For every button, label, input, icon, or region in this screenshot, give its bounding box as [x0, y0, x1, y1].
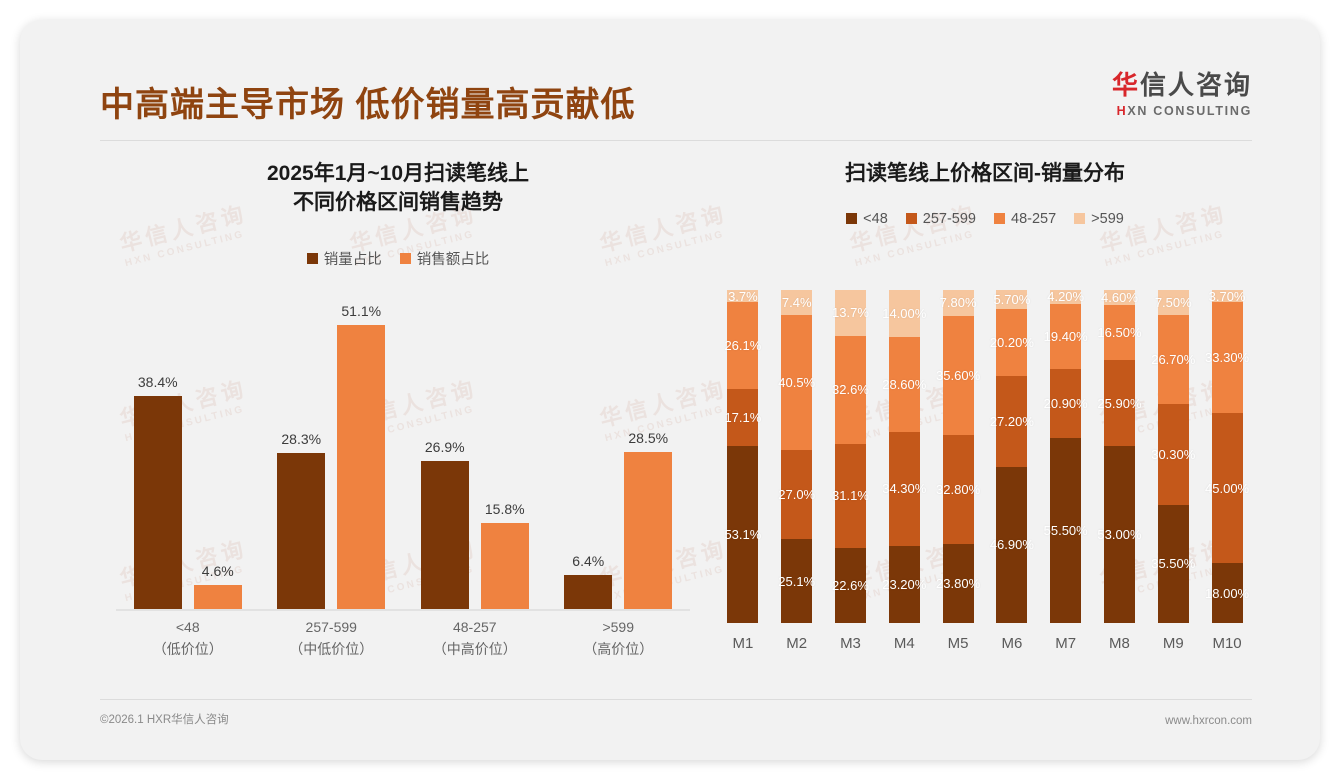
x-tick-M3: M3: [824, 623, 878, 665]
bar-销售额占比->599[interactable]: [624, 452, 672, 611]
chart-title-sales-trend: 2025年1月~10月扫读笔线上 不同价格区间销售趋势: [98, 160, 698, 218]
stacked-bar-M8: 4.60%16.50%25.90%53.00%: [1104, 290, 1135, 623]
stack-column-M7: 4.20%19.40%20.90%55.50%: [1039, 290, 1093, 623]
legend-item->599[interactable]: >599: [1074, 211, 1124, 227]
stack-segment-label: 16.50%: [1097, 325, 1141, 340]
bar-group-257-599: 28.3%51.1%: [260, 298, 404, 611]
stacked-bar-M2: 7.4%40.5%27.0%25.1%: [781, 290, 812, 623]
stacked-bar-M3: 13.7%32.6%31.1%22.6%: [835, 290, 866, 623]
stacked-bar-M6: 5.70%20.20%27.20%46.90%: [996, 290, 1027, 623]
slide-canvas: 中高端主导市场 低价销量高贡献低 华信人咨询 HXN CONSULTING 华信…: [20, 20, 1320, 760]
bar-销量占比->599[interactable]: [564, 575, 612, 611]
x-tick-M2: M2: [770, 623, 824, 665]
stack-segment-48-257-M3[interactable]: 32.6%: [835, 336, 866, 445]
stack-segment-label: 33.30%: [1205, 350, 1249, 365]
stack-segment-257-599-M10[interactable]: 45.00%: [1212, 413, 1243, 563]
stack-segment-label: 23.20%: [882, 577, 926, 592]
chart-panel-sales-trend: 2025年1月~10月扫读笔线上 不同价格区间销售趋势 销量占比销售额占比 38…: [98, 148, 698, 708]
stack-segment-label: 32.80%: [936, 482, 980, 497]
stack-segment-label: 28.60%: [882, 377, 926, 392]
stack-segment-<48-M3[interactable]: 22.6%: [835, 548, 866, 623]
stack-segment-48-257-M6[interactable]: 20.20%: [996, 309, 1027, 376]
bar-wrapper: 6.4%: [564, 298, 612, 611]
charts-region: 2025年1月~10月扫读笔线上 不同价格区间销售趋势 销量占比销售额占比 38…: [20, 148, 1320, 708]
stack-column-M6: 5.70%20.20%27.20%46.90%: [985, 290, 1039, 623]
stacked-bar-M4: 14.00%28.60%34.30%23.20%: [889, 290, 920, 623]
stack-segment-label: 26.1%: [724, 338, 761, 353]
stack-column-M9: 7.50%26.70%30.30%35.50%: [1146, 290, 1200, 623]
stack-segment-label: 32.6%: [832, 382, 869, 397]
stack-segment-label: 35.50%: [1151, 556, 1195, 571]
stack-segment-label: 5.70%: [993, 292, 1030, 307]
logo-chinese-rest: 信人咨询: [1140, 70, 1252, 100]
x-axis-labels-sales-trend: <48（低价位）257-599（中低价位）48-257（中高价位）>599（高价…: [116, 611, 690, 663]
bar-group-48-257: 26.9%15.8%: [403, 298, 547, 611]
stack-segment-label: 17.1%: [724, 410, 761, 425]
x-tick-M6: M6: [985, 623, 1039, 665]
stack-segment-label: 30.30%: [1151, 447, 1195, 462]
stack-segment-48-257-M5[interactable]: 35.60%: [943, 316, 974, 435]
stack-segment-label: 4.20%: [1047, 289, 1084, 304]
legend-swatch-icon: [846, 213, 857, 224]
bar-销售额占比-257-599[interactable]: [337, 325, 385, 611]
logo-chinese-first-char: 华: [1112, 70, 1140, 100]
stack-segment-label: 27.0%: [778, 487, 815, 502]
stack-segment-257-599-M6[interactable]: 27.20%: [996, 376, 1027, 467]
chart-plot-volume-distribution: 3.7%26.1%17.1%53.1%7.4%40.5%27.0%25.1%13…: [716, 290, 1254, 665]
chart-title-line-1: 2025年1月~10月扫读笔线上: [98, 160, 698, 189]
legend-item-48-257[interactable]: 48-257: [994, 211, 1056, 227]
footer-copyright: ©2026.1 HXR华信人咨询: [100, 711, 229, 727]
stack-segment->599-M4[interactable]: 14.00%: [889, 290, 920, 337]
bar-value-label: 38.4%: [118, 374, 198, 390]
legend-label: 48-257: [1011, 211, 1056, 227]
stacked-bar-M9: 7.50%26.70%30.30%35.50%: [1158, 290, 1189, 623]
stack-segment-<48-M1[interactable]: 53.1%: [727, 446, 758, 623]
x-tick-M9: M9: [1146, 623, 1200, 665]
stack-segment-label: 25.1%: [778, 574, 815, 589]
stack-segment-label: 7.80%: [940, 295, 977, 310]
stack-segment->599-M10[interactable]: 3.70%: [1212, 290, 1243, 302]
bar-wrapper: 15.8%: [481, 298, 529, 611]
legend-swatch-icon: [307, 253, 318, 264]
stack-segment-label: 27.20%: [990, 414, 1034, 429]
stack-segment-<48-M8[interactable]: 53.00%: [1104, 446, 1135, 622]
stacked-bars-container: 3.7%26.1%17.1%53.1%7.4%40.5%27.0%25.1%13…: [716, 290, 1254, 623]
legend-label: 257-599: [923, 211, 976, 227]
stack-segment-label: 31.1%: [832, 488, 869, 503]
stacked-bar-M1: 3.7%26.1%17.1%53.1%: [727, 290, 758, 623]
legend-label: 销售额占比: [417, 248, 490, 269]
legend-swatch-icon: [994, 213, 1005, 224]
stack-segment-label: 40.5%: [778, 375, 815, 390]
stack-segment-<48-M6[interactable]: 46.90%: [996, 467, 1027, 623]
stack-segment-label: 22.6%: [832, 578, 869, 593]
stack-segment->599-M7[interactable]: 4.20%: [1050, 290, 1081, 304]
stacked-bar-M10: 3.70%33.30%45.00%18.00%: [1212, 290, 1243, 623]
bar-wrapper: 38.4%: [134, 298, 182, 611]
x-tick-48-257: 48-257（中高价位）: [403, 611, 547, 663]
stack-segment-label: 7.4%: [782, 295, 812, 310]
stack-segment->599-M3[interactable]: 13.7%: [835, 290, 866, 336]
stack-segment->599-M9[interactable]: 7.50%: [1158, 290, 1189, 315]
logo-chinese: 华信人咨询: [1112, 72, 1252, 98]
stack-segment-<48-M5[interactable]: 23.80%: [943, 544, 974, 623]
bar-value-label: 28.5%: [608, 430, 688, 446]
bar-value-label: 15.8%: [465, 501, 545, 517]
legend-swatch-icon: [906, 213, 917, 224]
stack-column-M1: 3.7%26.1%17.1%53.1%: [716, 290, 770, 623]
legend-label: 销量占比: [324, 248, 382, 269]
stack-segment-label: 25.90%: [1097, 396, 1141, 411]
stacked-bar-M7: 4.20%19.40%20.90%55.50%: [1050, 290, 1081, 623]
stack-segment-label: 18.00%: [1205, 586, 1249, 601]
stack-segment-label: 7.50%: [1155, 295, 1192, 310]
bar-wrapper: 28.3%: [277, 298, 325, 611]
stack-segment-label: 20.90%: [1044, 396, 1088, 411]
stack-segment-48-257-M2[interactable]: 40.5%: [781, 315, 812, 450]
stack-column-M10: 3.70%33.30%45.00%18.00%: [1200, 290, 1254, 623]
stack-segment->599-M5[interactable]: 7.80%: [943, 290, 974, 316]
stack-segment-<48-M10[interactable]: 18.00%: [1212, 563, 1243, 623]
legend-item-销量占比[interactable]: 销量占比: [307, 248, 382, 269]
stack-column-M5: 7.80%35.60%32.80%23.80%: [931, 290, 985, 623]
stack-segment-48-257-M9[interactable]: 26.70%: [1158, 315, 1189, 404]
stack-segment-48-257-M8[interactable]: 16.50%: [1104, 305, 1135, 360]
x-tick-M5: M5: [931, 623, 985, 665]
bar-wrapper: 26.9%: [421, 298, 469, 611]
chart-legend-sales-trend: 销量占比销售额占比: [98, 248, 698, 269]
stack-segment-label: 14.00%: [882, 306, 926, 321]
stack-segment-label: 13.7%: [832, 305, 869, 320]
x-tick-sublabel: （中高价位）: [403, 639, 547, 661]
legend-item-257-599[interactable]: 257-599: [906, 211, 976, 227]
chart-legend-volume-distribution: <48257-59948-257>599: [710, 211, 1260, 227]
x-tick-sublabel: （高价位）: [547, 639, 691, 661]
stack-segment-257-599-M1[interactable]: 17.1%: [727, 389, 758, 446]
stack-column-M3: 13.7%32.6%31.1%22.6%: [824, 290, 878, 623]
stack-segment-label: 26.70%: [1151, 352, 1195, 367]
stack-segment-label: 19.40%: [1044, 329, 1088, 344]
stack-segment-257-599-M3[interactable]: 31.1%: [835, 444, 866, 548]
x-axis-labels-volume-distribution: M1M2M3M4M5M6M7M8M9M10: [716, 623, 1254, 665]
stack-segment-257-599-M2[interactable]: 27.0%: [781, 450, 812, 540]
stack-segment-<48-M9[interactable]: 35.50%: [1158, 505, 1189, 623]
x-tick->599: >599（高价位）: [547, 611, 691, 663]
header-divider: [100, 140, 1252, 141]
footer-website: www.hxrcon.com: [1165, 715, 1252, 727]
x-tick-label: <48: [116, 617, 260, 639]
logo-english-rest: XN CONSULTING: [1127, 104, 1252, 118]
x-tick-sublabel: （中低价位）: [260, 639, 404, 661]
stack-segment-<48-M2[interactable]: 25.1%: [781, 539, 812, 623]
stack-column-M4: 14.00%28.60%34.30%23.20%: [877, 290, 931, 623]
stack-segment-257-599-M8[interactable]: 25.90%: [1104, 360, 1135, 446]
bar-销量占比-257-599[interactable]: [277, 453, 325, 611]
stack-segment-label: 20.20%: [990, 335, 1034, 350]
stack-segment-48-257-M1[interactable]: 26.1%: [727, 302, 758, 389]
stack-segment-label: 45.00%: [1205, 481, 1249, 496]
stack-segment-48-257-M7[interactable]: 19.40%: [1050, 304, 1081, 369]
legend-item-<48[interactable]: <48: [846, 211, 888, 227]
chart-title-volume-distribution: 扫读笔线上价格区间-销量分布: [710, 160, 1260, 189]
stack-segment->599-M8[interactable]: 4.60%: [1104, 290, 1135, 305]
bar-value-label: 26.9%: [405, 439, 485, 455]
stack-segment-label: 34.30%: [882, 481, 926, 496]
x-tick-label: 257-599: [260, 617, 404, 639]
stack-segment->599-M2[interactable]: 7.4%: [781, 290, 812, 315]
stack-segment-257-599-M4[interactable]: 34.30%: [889, 432, 920, 546]
bar-value-label: 51.1%: [321, 303, 401, 319]
stack-segment-48-257-M4[interactable]: 28.60%: [889, 337, 920, 432]
legend-swatch-icon: [400, 253, 411, 264]
stack-segment-<48-M7[interactable]: 55.50%: [1050, 438, 1081, 623]
x-tick-M1: M1: [716, 623, 770, 665]
chart-plot-sales-trend: 38.4%4.6%28.3%51.1%26.9%15.8%6.4%28.5% <…: [116, 298, 690, 663]
x-tick-sublabel: （低价位）: [116, 639, 260, 661]
stack-segment-label: 23.80%: [936, 576, 980, 591]
x-tick-M8: M8: [1093, 623, 1147, 665]
chart-title-line-2: 不同价格区间销售趋势: [98, 189, 698, 218]
bar-value-label: 4.6%: [178, 563, 258, 579]
slide-header: 中高端主导市场 低价销量高贡献低 华信人咨询 HXN CONSULTING: [20, 20, 1320, 123]
x-tick-257-599: 257-599（中低价位）: [260, 611, 404, 663]
legend-swatch-icon: [1074, 213, 1085, 224]
bar-销售额占比-48-257[interactable]: [481, 523, 529, 611]
bar-value-label: 28.3%: [261, 431, 341, 447]
legend-label: <48: [863, 211, 888, 227]
stack-column-M8: 4.60%16.50%25.90%53.00%: [1093, 290, 1147, 623]
bar-wrapper: 4.6%: [194, 298, 242, 611]
stack-segment-257-599-M7[interactable]: 20.90%: [1050, 369, 1081, 439]
stack-segment-48-257-M10[interactable]: 33.30%: [1212, 302, 1243, 413]
bar-wrapper: 28.5%: [624, 298, 672, 611]
x-tick-M7: M7: [1039, 623, 1093, 665]
x-tick-M10: M10: [1200, 623, 1254, 665]
stack-segment->599-M6[interactable]: 5.70%: [996, 290, 1027, 309]
logo-english-first-char: H: [1117, 104, 1128, 118]
bar-销售额占比-<48[interactable]: [194, 585, 242, 611]
x-tick-label: 48-257: [403, 617, 547, 639]
x-tick-<48: <48（低价位）: [116, 611, 260, 663]
stack-segment-<48-M4[interactable]: 23.20%: [889, 546, 920, 623]
stack-segment-257-599-M5[interactable]: 32.80%: [943, 435, 974, 544]
bar-销量占比-48-257[interactable]: [421, 461, 469, 611]
logo-english: HXN CONSULTING: [1112, 105, 1252, 118]
stack-column-M2: 7.4%40.5%27.0%25.1%: [770, 290, 824, 623]
bar-wrapper: 51.1%: [337, 298, 385, 611]
stack-segment-label: 46.90%: [990, 537, 1034, 552]
stack-segment-label: 53.00%: [1097, 527, 1141, 542]
stack-segment-label: 35.60%: [936, 368, 980, 383]
legend-item-销售额占比[interactable]: 销售额占比: [400, 248, 490, 269]
chart-panel-volume-distribution: 扫读笔线上价格区间-销量分布 <48257-59948-257>599 3.7%…: [710, 148, 1260, 708]
bar-value-label: 6.4%: [548, 553, 628, 569]
stack-segment-257-599-M9[interactable]: 30.30%: [1158, 404, 1189, 505]
bar-group-<48: 38.4%4.6%: [116, 298, 260, 611]
x-tick-label: >599: [547, 617, 691, 639]
stacked-bar-M5: 7.80%35.60%32.80%23.80%: [943, 290, 974, 623]
stack-segment-label: 53.1%: [724, 527, 761, 542]
stack-segment-label: 4.60%: [1101, 290, 1138, 305]
bar-销量占比-<48[interactable]: [134, 396, 182, 611]
bar-group->599: 6.4%28.5%: [547, 298, 691, 611]
x-tick-M4: M4: [877, 623, 931, 665]
legend-label: >599: [1091, 211, 1124, 227]
page-title: 中高端主导市场 低价销量高贡献低: [100, 77, 635, 126]
stack-segment-label: 55.50%: [1044, 523, 1088, 538]
brand-logo: 华信人咨询 HXN CONSULTING: [1112, 72, 1252, 118]
grouped-bars-container: 38.4%4.6%28.3%51.1%26.9%15.8%6.4%28.5%: [116, 298, 690, 611]
stack-segment->599-M1[interactable]: 3.7%: [727, 290, 758, 302]
footer-divider: [100, 699, 1252, 700]
